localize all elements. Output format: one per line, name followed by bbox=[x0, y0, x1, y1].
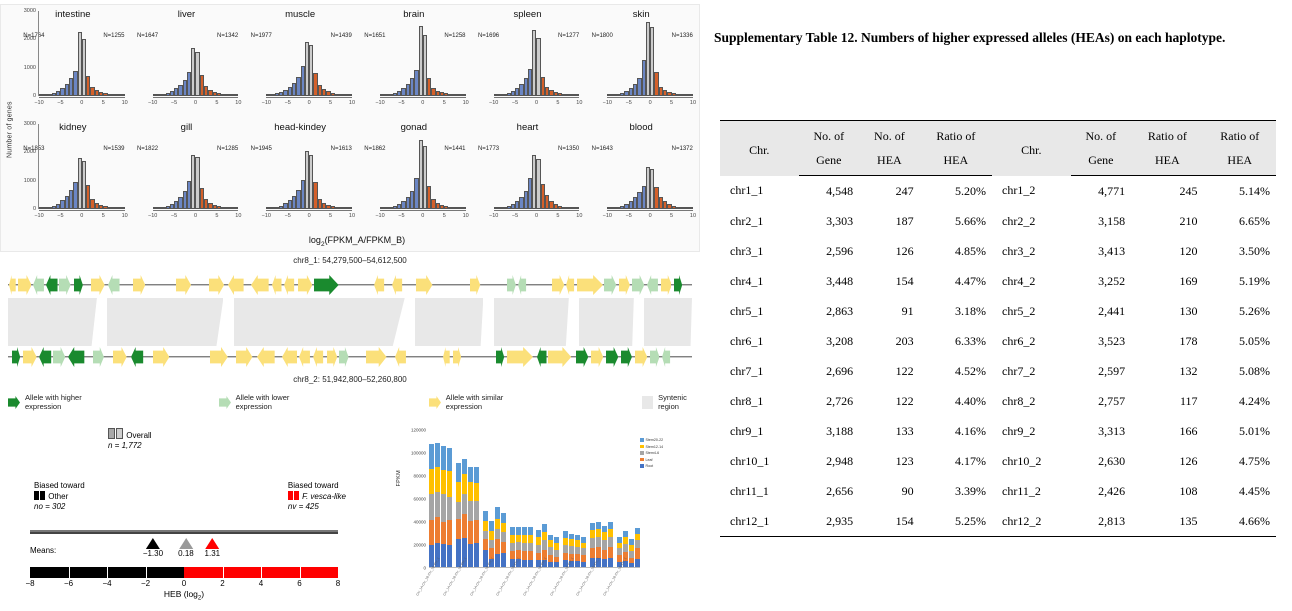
stacked-segment bbox=[528, 527, 533, 535]
stacked-segment bbox=[510, 551, 515, 559]
stacked-segment bbox=[602, 540, 607, 549]
table-cell: chr1_2 bbox=[992, 176, 1071, 207]
x-tick: −10 bbox=[375, 213, 384, 219]
heb-x-tick: 4 bbox=[259, 579, 263, 588]
synteny-top-gene bbox=[251, 275, 269, 295]
y-tick: 0 bbox=[33, 206, 36, 212]
heb-scale-tick bbox=[107, 567, 108, 578]
x-tick: −5 bbox=[171, 213, 177, 219]
stacked-bar-group-1 bbox=[429, 430, 452, 568]
table-cell: 130 bbox=[1131, 296, 1203, 326]
synteny-top-gene bbox=[108, 275, 120, 295]
stacked-segment bbox=[447, 520, 452, 545]
stacked-segment bbox=[516, 542, 521, 550]
panel-x-ticks: −10−50510 bbox=[153, 100, 239, 110]
synteny-top-gene bbox=[133, 275, 145, 295]
synteny-bottom-gene bbox=[313, 347, 323, 367]
stacked-legend-item-2: Stem12-14 bbox=[640, 445, 698, 449]
synteny-baseline-bottom bbox=[8, 356, 692, 357]
synteny-top-gene bbox=[91, 275, 105, 295]
stacked-bar bbox=[468, 430, 473, 568]
stacked-segment bbox=[435, 517, 440, 542]
heb-overall-key: Overall bbox=[108, 428, 152, 441]
histogram-bar bbox=[120, 94, 124, 96]
stacked-segment bbox=[563, 553, 568, 560]
heb-column bbox=[156, 530, 169, 534]
table-cell: 5.25% bbox=[920, 506, 992, 537]
synteny-top-gene bbox=[9, 275, 16, 295]
heb-vesca-annotation: Biased toward F. vesca-like nv = 425 bbox=[288, 481, 346, 512]
heb-column bbox=[142, 530, 155, 534]
synteny-top-gene bbox=[374, 275, 384, 295]
stacked-segment bbox=[590, 523, 595, 530]
table-cell: 4.66% bbox=[1204, 506, 1276, 537]
table-cell: chr6_2 bbox=[992, 326, 1071, 356]
x-tick: −5 bbox=[57, 100, 63, 106]
synteny-bottom-gene bbox=[443, 347, 450, 367]
stacked-segment bbox=[447, 497, 452, 520]
heb-figure: Overall n = 1,772 Biased toward Other no… bbox=[16, 426, 346, 598]
synteny-top-gene bbox=[392, 275, 402, 295]
x-tick: 0 bbox=[308, 100, 311, 106]
x-tick: −5 bbox=[626, 213, 632, 219]
heb-column bbox=[296, 530, 309, 534]
heb-x-tick: −8 bbox=[25, 579, 34, 588]
heb-scale-bar bbox=[30, 567, 338, 578]
table-cell: 2,426 bbox=[1071, 476, 1132, 506]
synteny-bottom-gene bbox=[650, 347, 660, 367]
x-tick: 5 bbox=[215, 100, 218, 106]
x-tick: 0 bbox=[80, 213, 83, 219]
x-tick: −5 bbox=[398, 213, 404, 219]
x-tick: 0 bbox=[535, 213, 538, 219]
table-cell: 2,441 bbox=[1071, 296, 1132, 326]
table-header-cell: HEA bbox=[1204, 148, 1276, 176]
heb-other-swatch-2 bbox=[40, 491, 45, 500]
synteny-legend-item-3: Allele with similar expression bbox=[429, 393, 522, 411]
synteny-top-gene bbox=[298, 275, 312, 295]
heb-fill-bar bbox=[58, 532, 71, 534]
stacked-bar bbox=[510, 430, 515, 568]
stacked-segment bbox=[548, 547, 553, 555]
synteny-top-gene bbox=[577, 275, 603, 295]
x-tick: 5 bbox=[443, 100, 446, 106]
x-tick: 10 bbox=[463, 100, 469, 106]
x-tick: −5 bbox=[57, 213, 63, 219]
table-cell: chr7_1 bbox=[720, 356, 799, 386]
synteny-bottom-gene bbox=[153, 347, 169, 367]
table-cell: 2,596 bbox=[799, 236, 860, 266]
heb-scale-tick bbox=[146, 567, 147, 578]
stacked-segment bbox=[635, 534, 640, 541]
heb-column bbox=[170, 530, 183, 534]
stacked-y-tick: 120000 bbox=[411, 428, 426, 433]
synteny-bottom-gene bbox=[68, 347, 84, 367]
stacked-segment bbox=[495, 507, 500, 519]
x-tick: 10 bbox=[235, 100, 241, 106]
stacked-segment bbox=[608, 529, 613, 537]
synteny-top-gene bbox=[604, 275, 616, 295]
table-cell: 2,948 bbox=[799, 446, 860, 476]
panel-x-axis bbox=[494, 210, 580, 211]
table-cell: chr9_1 bbox=[720, 416, 799, 446]
x-tick: −5 bbox=[626, 100, 632, 106]
synteny-top-gene bbox=[209, 275, 224, 295]
panel-plot bbox=[153, 124, 239, 209]
table-cell: 3.50% bbox=[1204, 236, 1276, 266]
stacked-bar bbox=[602, 430, 607, 568]
panel-plot bbox=[266, 11, 352, 96]
heb-column bbox=[310, 530, 323, 534]
panel-x-ticks: −10−50510 bbox=[380, 100, 466, 110]
heb-fill-bar bbox=[240, 532, 253, 534]
x-tick: 10 bbox=[122, 213, 128, 219]
table-cell: 3,413 bbox=[1071, 236, 1132, 266]
panel-x-ticks: −10−50510 bbox=[607, 213, 693, 223]
table-cell: 4.45% bbox=[1204, 476, 1276, 506]
stacked-segment bbox=[435, 467, 440, 492]
table-cell: 132 bbox=[1131, 356, 1203, 386]
synteny-bottom-gene bbox=[236, 347, 252, 367]
stacked-segment bbox=[429, 494, 434, 519]
heb-column bbox=[184, 530, 197, 534]
table-row: chr5_12,863913.18%chr5_22,4411305.26% bbox=[720, 296, 1276, 326]
stacked-segment bbox=[462, 474, 467, 495]
stacked-segment bbox=[522, 527, 527, 535]
panel-x-axis bbox=[266, 97, 352, 98]
heb-overall-n: n = 1,772 bbox=[108, 441, 152, 451]
stacked-segment bbox=[522, 535, 527, 543]
histogram-panel-heart: heartN=1773N=1350−10−50510 bbox=[474, 120, 582, 229]
stacked-segment bbox=[483, 521, 488, 531]
heb-column bbox=[226, 530, 239, 534]
table-cell: 247 bbox=[859, 176, 920, 207]
x-tick: 5 bbox=[329, 100, 332, 106]
synteny-track-bottom bbox=[8, 342, 692, 372]
histogram-panel-head-kindey: head-kindeyN=1945N=1613−10−50510 bbox=[246, 120, 354, 229]
stacked-segment bbox=[542, 524, 547, 532]
histogram-bar bbox=[575, 94, 579, 96]
heb-column bbox=[268, 530, 281, 534]
stacked-bar bbox=[522, 430, 527, 568]
heb-fill-bar bbox=[226, 532, 239, 534]
synteny-bottom-gene bbox=[113, 347, 127, 367]
heb-column bbox=[100, 530, 113, 534]
stacked-segment bbox=[489, 540, 494, 548]
stacked-bar bbox=[617, 430, 622, 568]
heb-fill-bar bbox=[114, 532, 127, 534]
synteny-top-gene bbox=[284, 275, 294, 295]
x-tick: −10 bbox=[375, 100, 384, 106]
synteny-bottom-gene bbox=[606, 347, 618, 367]
stacked-segment bbox=[501, 532, 506, 541]
x-tick: 5 bbox=[556, 100, 559, 106]
table-cell: chr7_2 bbox=[992, 356, 1071, 386]
stacked-segment bbox=[590, 548, 595, 557]
legend-swatch bbox=[640, 438, 644, 442]
synteny-top-label: chr8_1: 54,279,500–54,612,500 bbox=[0, 256, 700, 265]
heb-other-n: no = 302 bbox=[34, 502, 85, 512]
table-cell: 120 bbox=[1131, 236, 1203, 266]
heb-x-tick: 2 bbox=[220, 579, 224, 588]
y-tick: 0 bbox=[33, 93, 36, 99]
stacked-segment bbox=[447, 448, 452, 471]
panel-x-ticks: −10−50510 bbox=[266, 100, 352, 110]
histogram-figure: Number of genes intestineN=1764N=1255300… bbox=[0, 4, 700, 252]
y-tick: 1000 bbox=[24, 178, 36, 184]
synteny-bottom-gene bbox=[39, 347, 51, 367]
heb-fill-bar bbox=[184, 532, 197, 534]
histogram-bar bbox=[234, 94, 238, 96]
x-tick: −10 bbox=[489, 213, 498, 219]
legend-arrow-icon bbox=[429, 396, 441, 409]
table-header-cell: Chr. bbox=[992, 121, 1071, 176]
stacked-bar-group-2 bbox=[456, 430, 479, 568]
panel-plot bbox=[39, 11, 125, 96]
synteny-legend-item-1: Allele with higher expression bbox=[8, 393, 101, 411]
stacked-bar bbox=[474, 430, 479, 568]
stacked-bar-group-3 bbox=[483, 430, 506, 568]
heb-vesca-biased-label: Biased toward bbox=[288, 481, 346, 491]
stacked-segment bbox=[456, 463, 461, 481]
heb-column bbox=[44, 530, 57, 534]
panel-x-ticks: −10−50510 bbox=[494, 100, 580, 110]
stacked-segment bbox=[608, 522, 613, 529]
table-header-cell: Chr. bbox=[720, 121, 799, 176]
stacked-bar-figure: FPKM 120000100000800006000040000200000 C… bbox=[382, 426, 700, 602]
heb-fill-bar bbox=[310, 532, 323, 534]
heb-vesca-key: F. vesca-like bbox=[288, 491, 346, 502]
heb-column bbox=[198, 530, 211, 534]
legend-label: Stem20-22 bbox=[646, 438, 664, 442]
x-tick: −10 bbox=[262, 100, 271, 106]
stacked-bar bbox=[596, 430, 601, 568]
stacked-segment bbox=[522, 543, 527, 551]
heb-x-axis-label: HEB (log2) bbox=[30, 589, 338, 602]
panel-x-axis bbox=[266, 210, 352, 211]
x-tick: 10 bbox=[576, 100, 582, 106]
histogram-panel-intestine: intestineN=1764N=12553000200010000−10−50… bbox=[19, 7, 127, 116]
stacked-y-tick: 100000 bbox=[411, 451, 426, 456]
heb-overall-swatch bbox=[108, 428, 115, 439]
x-tick: −10 bbox=[148, 100, 157, 106]
panel-x-ticks: −10−50510 bbox=[153, 213, 239, 223]
table-cell: 5.14% bbox=[1204, 176, 1276, 207]
heb-fill-bar bbox=[282, 532, 295, 534]
heb-column bbox=[128, 530, 141, 534]
table-cell: 91 bbox=[859, 296, 920, 326]
table-header-row-1: Chr.No. ofNo. ofRatio ofChr.No. ofRatio … bbox=[720, 121, 1276, 149]
stacked-bar bbox=[483, 430, 488, 568]
synteny-top-gene bbox=[59, 275, 71, 295]
table-cell: chr2_1 bbox=[720, 206, 799, 236]
table-row: chr6_13,2082036.33%chr6_23,5231785.05% bbox=[720, 326, 1276, 356]
synteny-bottom-gene bbox=[327, 347, 337, 367]
table-cell: 166 bbox=[1131, 416, 1203, 446]
table-cell: 3,303 bbox=[799, 206, 860, 236]
table-cell: 2,696 bbox=[799, 356, 860, 386]
x-tick: 5 bbox=[670, 213, 673, 219]
stacked-segment bbox=[441, 446, 446, 470]
x-tick: −10 bbox=[34, 213, 43, 219]
stacked-legend: Stem20-22Stem12-14Stem4-6LeafRoot bbox=[640, 438, 698, 471]
x-tick: −10 bbox=[34, 100, 43, 106]
heb-column bbox=[30, 530, 43, 534]
table-cell: 122 bbox=[859, 386, 920, 416]
stacked-segment bbox=[542, 540, 547, 549]
table-header-cell: No. of bbox=[859, 121, 920, 149]
stacked-segment bbox=[602, 526, 607, 533]
table-cell: 178 bbox=[1131, 326, 1203, 356]
stacked-bar-group-6 bbox=[563, 430, 586, 568]
synteny-bottom-gene bbox=[621, 347, 632, 367]
panel-x-axis bbox=[153, 97, 239, 98]
heb-fill-bar bbox=[268, 532, 281, 534]
table-cell: 3.39% bbox=[920, 476, 992, 506]
table-cell: 4.75% bbox=[1204, 446, 1276, 476]
histogram-bar bbox=[689, 94, 693, 96]
synteny-bottom-gene bbox=[282, 347, 297, 367]
table-row: chr2_13,3031875.66%chr2_23,1582106.65% bbox=[720, 206, 1276, 236]
heb-column bbox=[254, 530, 267, 534]
stacked-segment bbox=[516, 527, 521, 535]
x-tick: −5 bbox=[398, 100, 404, 106]
panel-x-axis bbox=[153, 210, 239, 211]
stacked-segment bbox=[575, 547, 580, 554]
stacked-bar bbox=[575, 430, 580, 568]
heb-fill-bar bbox=[324, 532, 337, 534]
heb-fill-bar bbox=[100, 532, 113, 534]
stacked-segment bbox=[581, 555, 586, 562]
stacked-segment bbox=[429, 444, 434, 469]
table-header-cell: HEA bbox=[1131, 148, 1203, 176]
heb-other-swatch bbox=[34, 491, 39, 500]
x-tick: 0 bbox=[421, 213, 424, 219]
stacked-segment bbox=[483, 531, 488, 539]
x-tick: −10 bbox=[603, 213, 612, 219]
x-tick: 5 bbox=[670, 100, 673, 106]
stacked-segment bbox=[462, 494, 467, 514]
table-cell: 203 bbox=[859, 326, 920, 356]
stacked-bar bbox=[462, 430, 467, 568]
panel-x-axis bbox=[39, 97, 125, 98]
synteny-top-gene bbox=[416, 275, 432, 295]
stacked-y-tick: 20000 bbox=[413, 543, 426, 548]
synteny-bottom-gene bbox=[12, 347, 20, 367]
stacked-segment bbox=[569, 539, 574, 546]
heb-fill-bar bbox=[86, 532, 99, 534]
panel-plot bbox=[494, 11, 580, 96]
syntenic-ribbon bbox=[234, 298, 405, 346]
heb-fill-bar bbox=[156, 532, 169, 534]
stacked-segment bbox=[435, 492, 440, 517]
table-cell: 133 bbox=[859, 416, 920, 446]
stacked-segment bbox=[536, 537, 541, 545]
synteny-top-gene bbox=[647, 275, 658, 295]
heb-fill-bar bbox=[128, 532, 141, 534]
table-cell: 3,523 bbox=[1071, 326, 1132, 356]
heb-other-annotation: Biased toward Other no = 302 bbox=[34, 481, 85, 512]
table-row: chr11_12,656903.39%chr11_22,4261084.45% bbox=[720, 476, 1276, 506]
stacked-segment bbox=[462, 514, 467, 538]
heb-x-tick: −6 bbox=[64, 579, 73, 588]
stacked-segment bbox=[429, 469, 434, 494]
synteny-top-gene bbox=[566, 275, 574, 295]
x-tick: 5 bbox=[329, 213, 332, 219]
stacked-segment bbox=[468, 467, 473, 482]
stacked-legend-item-1: Stem20-22 bbox=[640, 438, 698, 442]
stacked-segment bbox=[635, 548, 640, 558]
x-tick: −5 bbox=[285, 213, 291, 219]
panel-x-axis bbox=[380, 97, 466, 98]
legend-label: Allele with lower expression bbox=[236, 393, 309, 411]
heb-column bbox=[72, 530, 85, 534]
stacked-segment bbox=[528, 551, 533, 560]
x-tick: 5 bbox=[102, 100, 105, 106]
heb-other-name: Other bbox=[48, 492, 68, 501]
table-cell: chr12_1 bbox=[720, 506, 799, 537]
heb-means-label: Means: bbox=[30, 546, 56, 555]
table-cell: 2,757 bbox=[1071, 386, 1132, 416]
stacked-segment bbox=[447, 471, 452, 496]
table-cell: chr10_2 bbox=[992, 446, 1071, 476]
stacked-bar bbox=[441, 430, 446, 568]
syntenic-ribbon bbox=[8, 298, 97, 346]
synteny-legend-item-2: Allele with lower expression bbox=[219, 393, 309, 411]
heb-other-key: Other bbox=[34, 491, 85, 502]
x-tick: 10 bbox=[463, 213, 469, 219]
x-tick: −10 bbox=[489, 100, 498, 106]
synteny-bottom-gene bbox=[576, 347, 588, 367]
table-cell: 5.05% bbox=[1204, 326, 1276, 356]
stacked-segment bbox=[510, 543, 515, 551]
synteny-top-gene bbox=[46, 275, 58, 295]
histogram-bar bbox=[348, 207, 352, 209]
stacked-legend-item-3: Stem4-6 bbox=[640, 451, 698, 455]
legend-swatch bbox=[640, 445, 644, 449]
legend-label: Stem4-6 bbox=[646, 451, 660, 455]
legend-label: Root bbox=[646, 464, 654, 468]
panel-plot bbox=[380, 124, 466, 209]
table-row: chr4_13,4481544.47%chr4_23,2521695.19% bbox=[720, 266, 1276, 296]
heb-vesca-swatch-2 bbox=[294, 491, 299, 500]
table-cell: 122 bbox=[859, 356, 920, 386]
heb-x-tick: 6 bbox=[297, 579, 301, 588]
panel-x-ticks: −10−50510 bbox=[39, 100, 125, 110]
heb-means-row: Means: −1.300.181.31 bbox=[16, 536, 346, 566]
stacked-segment bbox=[468, 501, 473, 521]
stacked-segment bbox=[501, 523, 506, 532]
stacked-segment bbox=[590, 538, 595, 548]
stacked-segment bbox=[635, 540, 640, 548]
synteny-track-top bbox=[8, 270, 692, 300]
stacked-segment bbox=[623, 544, 628, 552]
heb-fill-bar bbox=[170, 532, 183, 534]
heb-scale-tick bbox=[223, 567, 224, 578]
panel-x-axis bbox=[494, 97, 580, 98]
table-cell: chr3_2 bbox=[992, 236, 1071, 266]
x-tick: 10 bbox=[576, 213, 582, 219]
y-tick: 2000 bbox=[24, 36, 36, 42]
stacked-y-tick: 0 bbox=[423, 566, 426, 571]
heb-fill-bar bbox=[142, 532, 155, 534]
stacked-y-tick: 80000 bbox=[413, 474, 426, 479]
stacked-bar bbox=[429, 430, 434, 568]
heb-fill-bar bbox=[30, 532, 43, 534]
table-body: chr1_14,5482475.20%chr1_24,7712455.14%ch… bbox=[720, 176, 1276, 537]
table-cell: chr1_1 bbox=[720, 176, 799, 207]
synteny-top-gene bbox=[518, 275, 526, 295]
